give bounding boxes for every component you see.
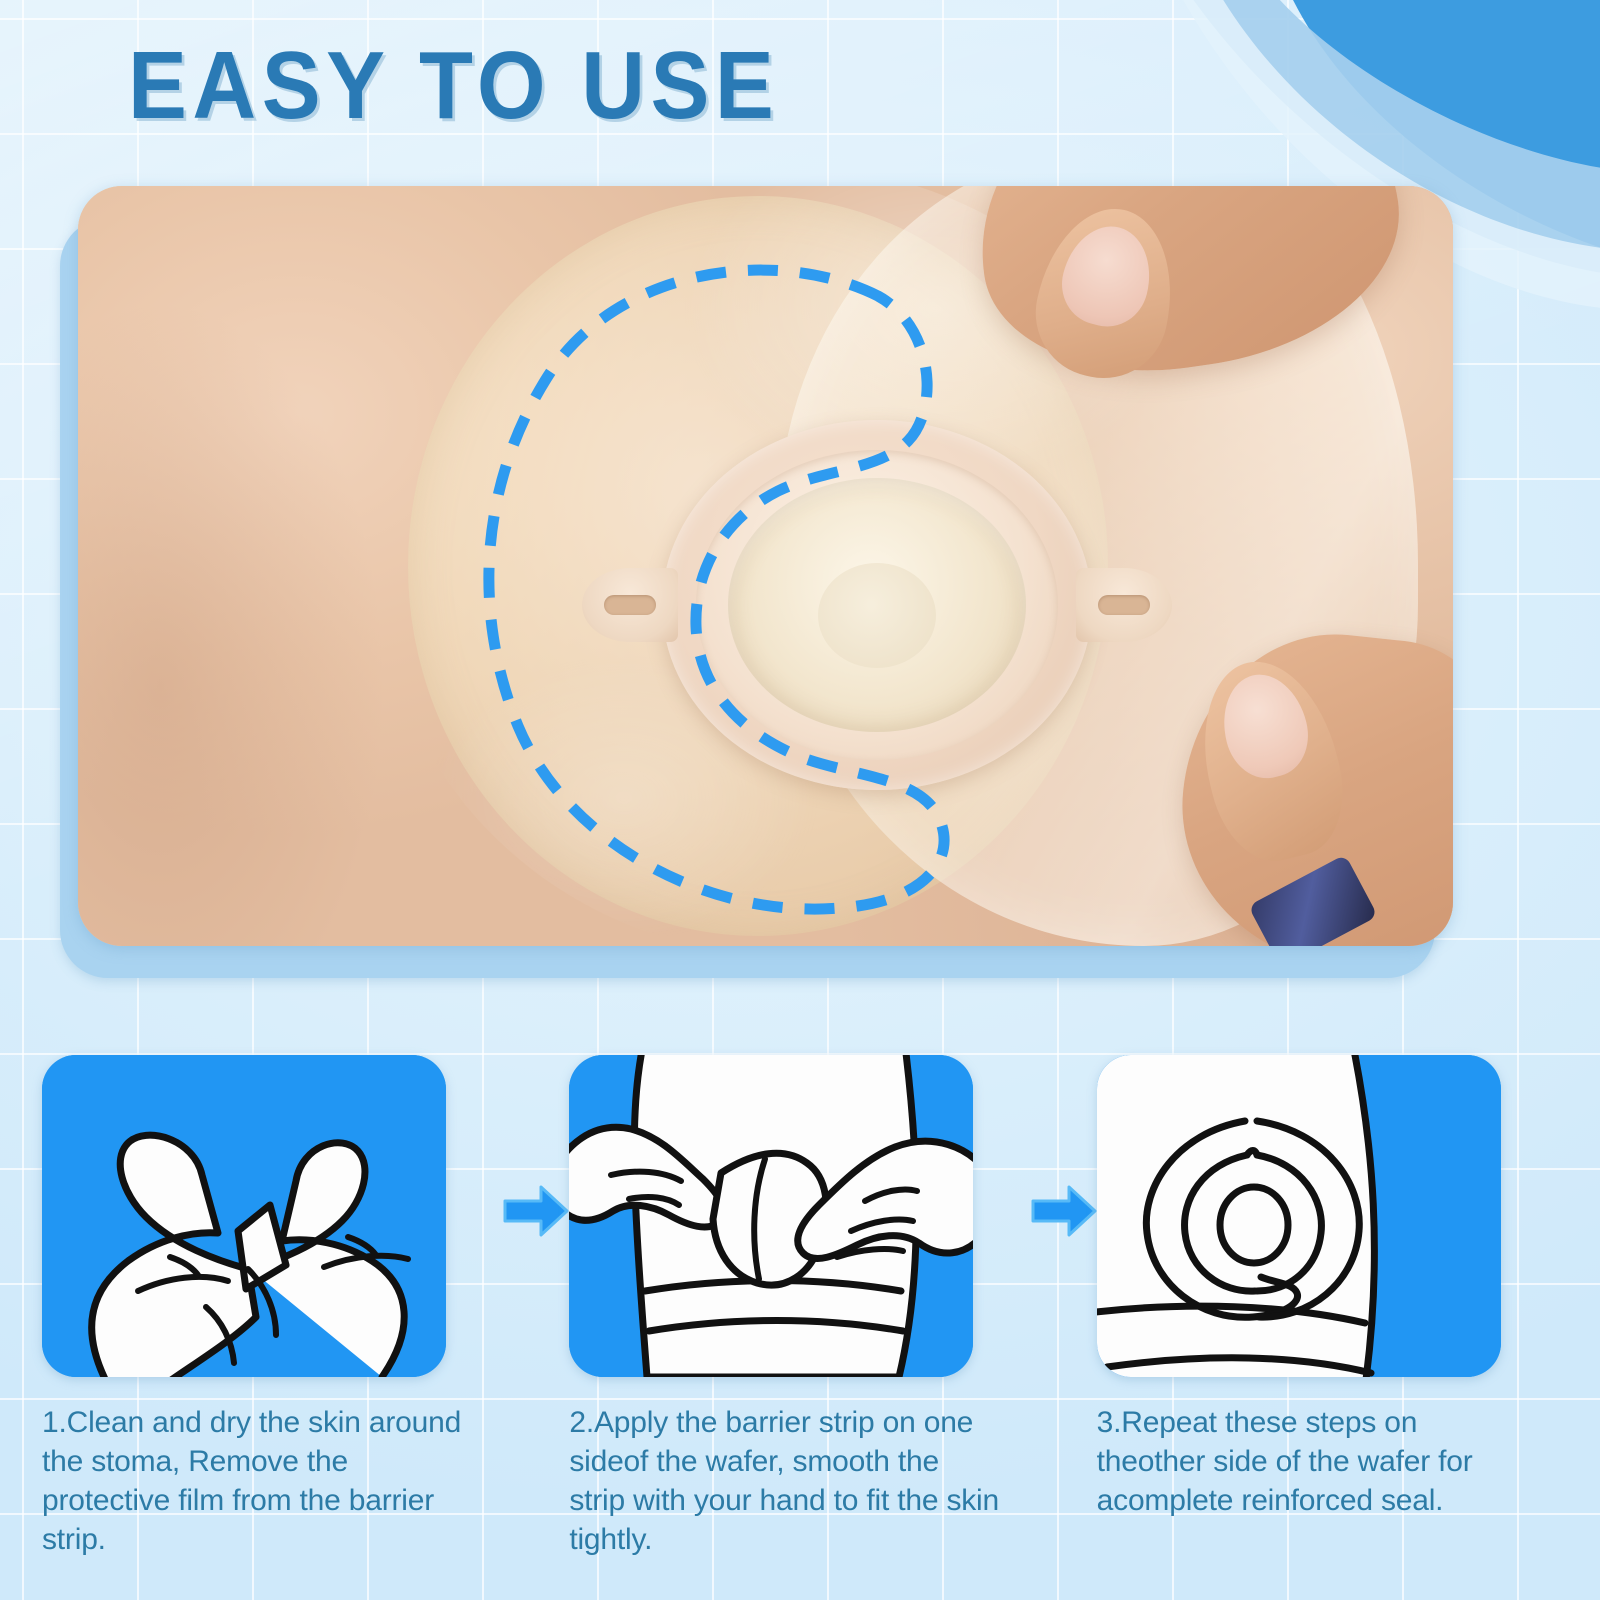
flange-inner-ring [728, 478, 1026, 732]
step-illustration-2[interactable] [569, 1055, 973, 1377]
flange-tab-left [582, 568, 678, 642]
stoma-opening [818, 563, 936, 668]
step-caption-1: 1.Clean and dry the skin around the stom… [42, 1403, 472, 1559]
step-illustration-3[interactable] [1097, 1055, 1501, 1377]
flange-tab-right [1076, 568, 1172, 642]
coupling-flange-ring [662, 420, 1092, 790]
step-column-3: 3.Repeat these steps on theother side of… [1097, 1055, 1558, 1520]
flange-tab-slot-right [1098, 595, 1150, 615]
step-illustration-1[interactable] [42, 1055, 446, 1377]
steps-row: 1.Clean and dry the skin around the stom… [0, 1055, 1600, 1559]
steps-section: 1.Clean and dry the skin around the stom… [0, 1055, 1600, 1559]
step-column-2: 2.Apply the barrier strip on one sideof … [569, 1055, 1030, 1559]
arrow-step1-to-step2 [503, 1183, 569, 1239]
page-title: EASY TO USE [128, 38, 779, 134]
step-column-1: 1.Clean and dry the skin around the stom… [42, 1055, 503, 1559]
flange-mid-ring [696, 450, 1058, 760]
step-caption-2: 2.Apply the barrier strip on one sideof … [569, 1403, 999, 1559]
flange-tab-slot-left [604, 595, 656, 615]
arrow-step2-to-step3 [1031, 1183, 1097, 1239]
step-caption-3: 3.Repeat these steps on theother side of… [1097, 1403, 1527, 1520]
hero-photo [78, 186, 1453, 946]
infographic-page: EASY TO USE [0, 0, 1600, 1600]
